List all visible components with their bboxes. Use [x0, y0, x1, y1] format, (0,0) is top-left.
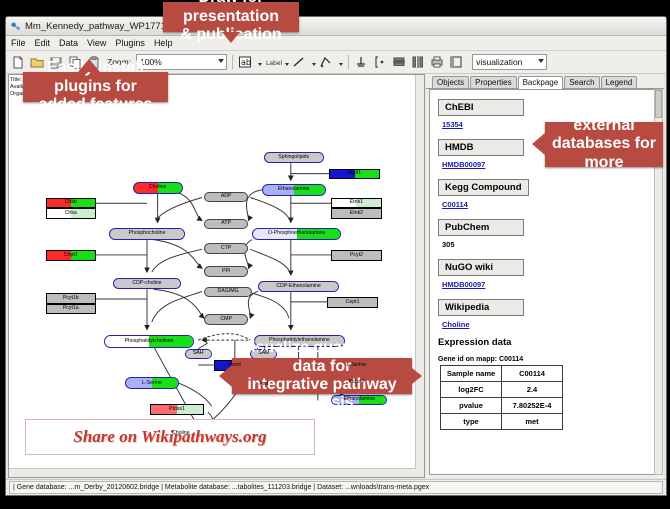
gene-node-pcyt2[interactable]: Pcyt2	[331, 250, 381, 261]
node-label: Sgpl1	[348, 171, 361, 176]
callout-visualize-text: Visualize quantitative data for integrat…	[232, 337, 412, 415]
canvas-horizontal-scrollbar[interactable]	[9, 468, 416, 477]
node-label: CDP-Ethanolamine	[276, 284, 320, 289]
menu-view[interactable]: View	[87, 38, 106, 48]
status-text: | Gene database: ...m_Derby_20120602.bri…	[9, 481, 663, 494]
node-label: Chpt1	[64, 253, 78, 258]
print-icon[interactable]	[430, 55, 446, 70]
metabolite-node-cdp_ethanolamine[interactable]: CDP-Ethanolamine	[258, 281, 339, 292]
cofactor-node-dag-mg[interactable]: DAG/MG	[204, 287, 252, 298]
cofactor-node-atp[interactable]: ATP	[204, 219, 248, 230]
share-banner-text: Share on Wikipathways.org	[73, 427, 266, 447]
metabolite-node-l_serine_left[interactable]: L-Serine	[125, 377, 179, 388]
node-label: Chka	[65, 211, 77, 216]
table-cell-key: pvalue	[441, 398, 502, 414]
node-label: CMP	[220, 317, 232, 322]
db-heading-wikipedia: Wikipedia	[438, 299, 524, 316]
node-label: Ptdss2	[349, 380, 365, 385]
callout-links-line3: more information	[551, 154, 657, 191]
table-cell-value: met	[502, 414, 563, 430]
metabolite-node-choline_top[interactable]: Choline	[133, 182, 183, 193]
db-value-kegg-compound[interactable]: C00114	[442, 200, 654, 209]
gene-node-chpt1[interactable]: Chpt1	[46, 250, 96, 261]
table-cell-key: log2FC	[441, 382, 502, 398]
expression-data-heading: Expression data	[438, 337, 654, 348]
gene-node-pcyt1b[interactable]: Pcyt1b	[46, 293, 96, 304]
gene-node-chka[interactable]: Chka	[46, 208, 96, 219]
node-label: Psd	[259, 382, 268, 387]
node-label: Pemt	[229, 363, 241, 368]
menu-file[interactable]: File	[11, 38, 26, 48]
table-cell-value: C00114	[502, 366, 563, 382]
db-heading-hmdb: HMDB	[438, 139, 524, 156]
line-dropdown-arrow[interactable]	[312, 63, 316, 66]
align-icon[interactable]	[392, 55, 408, 70]
node-label: CTP	[221, 246, 231, 251]
label-tool-text[interactable]: Label	[265, 55, 281, 70]
tab-backpage[interactable]: Backpage	[518, 76, 564, 89]
gene-node-etnk2[interactable]: Etnk2	[331, 208, 381, 219]
cofactor-node-ctp[interactable]: CTP	[204, 243, 248, 254]
metabolite-node-o_phosphoethanolamine[interactable]: O-Phosphoethanolamine	[252, 228, 341, 239]
node-label: Chkb	[65, 200, 77, 205]
expression-table: Sample nameC00114log2FC2.4pvalue7.80252E…	[440, 365, 563, 430]
node-label: Ethanolamine	[343, 397, 375, 402]
menu-edit[interactable]: Edit	[35, 38, 51, 48]
gene-node-sgpl1[interactable]: Sgpl1	[329, 169, 379, 180]
callout-visualize-line1: Visualize quantitative data for	[238, 339, 406, 376]
toolbar-separator-2	[348, 55, 349, 69]
node-label: CDP-choline	[132, 281, 161, 286]
callout-links-pointer	[532, 133, 545, 155]
canvas-vertical-scrollbar[interactable]	[415, 75, 424, 477]
menu-plugins[interactable]: Plugins	[115, 38, 145, 48]
gene-id-line: Gene id on mapp: C00114	[438, 356, 654, 363]
db-value-wikipedia[interactable]: Choline	[442, 320, 654, 329]
table-row: typemet	[441, 414, 563, 430]
node-label: Pcyt2	[350, 253, 363, 258]
pathvisio-app-icon	[10, 21, 21, 32]
callout-plugins: Easily install plugins for added feature…	[23, 72, 168, 102]
metabolite-node-sphingolipids[interactable]: Sphingolipids	[264, 152, 324, 163]
shape-icon[interactable]	[319, 55, 335, 70]
callout-plugins-pointer	[78, 59, 100, 72]
gene-node-etnk1[interactable]: Etnk1	[331, 198, 381, 209]
title-bar: Mm_Kennedy_pathway_WP1771_45176.gpml	[6, 17, 666, 36]
node-label: Pcyt1a	[63, 306, 79, 311]
toolbar-separator	[232, 55, 233, 69]
pathway-canvas-area[interactable]: Title: Availa Organi	[8, 74, 425, 478]
callout-visualize: Visualize quantitative data for integrat…	[232, 358, 412, 394]
callout-draw-pointer	[222, 32, 240, 43]
visualization-combo[interactable]: visualization	[472, 54, 547, 70]
gene-node-pcyt1a[interactable]: Pcyt1a	[46, 304, 96, 315]
node-label: SAH	[193, 351, 204, 356]
pathway-canvas[interactable]: Title: Availa Organi	[9, 75, 424, 477]
metabolite-node-phosphocholine[interactable]: Phosphocholine	[109, 228, 184, 239]
db-value-pubchem: 305	[442, 240, 654, 249]
node-label: ATP	[221, 221, 231, 226]
table-cell-key: Sample name	[441, 366, 502, 382]
node-label: Phosphocholine	[129, 231, 166, 236]
node-label: Choline	[149, 185, 167, 190]
callout-links-text: Link to external databases for more info…	[545, 97, 663, 193]
menu-data[interactable]: Data	[59, 38, 78, 48]
node-label: Pcyt1b	[63, 296, 79, 301]
text-label-icon[interactable]: ab	[238, 55, 254, 70]
node-label: Sphingolipids	[278, 155, 309, 160]
label-dropdown-arrow[interactable]	[258, 63, 262, 66]
status-bar: | Gene database: ...m_Derby_20120602.bri…	[6, 479, 666, 495]
db-heading-chebi: ChEBI	[438, 99, 524, 116]
bracket-icon[interactable]	[373, 55, 389, 70]
metabolite-node-cdp_choline[interactable]: CDP-choline	[113, 278, 181, 289]
line-icon[interactable]	[292, 55, 308, 70]
metabolite-node-phosphatidylcholines[interactable]: Phosphatidylcholines	[104, 335, 195, 347]
visualization-value: visualization	[476, 57, 522, 67]
node-label: L-Serine	[347, 363, 367, 368]
sidebar-tabs: Objects Properties Backpage Search Legen…	[426, 74, 664, 89]
node-label: O-Phosphoethanolamine	[268, 231, 325, 236]
node-label: DAG/MG	[218, 289, 239, 294]
node-label: Ethanolamine	[278, 187, 310, 192]
cofactor-node-ppi[interactable]: PPi	[204, 266, 248, 277]
node-label: Etnk1	[350, 200, 363, 205]
svg-text:Label: Label	[266, 60, 283, 67]
node-label: PPi	[222, 269, 230, 274]
svg-text:ab: ab	[241, 58, 251, 67]
tab-legend[interactable]: Legend	[601, 76, 638, 88]
shape-dropdown-arrow[interactable]	[339, 63, 343, 66]
cofactor-node-adp[interactable]: ADP	[204, 192, 248, 203]
db-value-nugo-wiki[interactable]: HMDB00097	[442, 280, 654, 289]
node-label: Phosphatidylethanolamine	[269, 338, 330, 343]
node-label: ADP	[221, 194, 232, 199]
callout-links: Link to external databases for more info…	[545, 122, 663, 167]
callout-visualize-pointer-left	[219, 365, 232, 387]
callout-plugins-line2: added features	[29, 96, 162, 114]
tab-search[interactable]: Search	[564, 76, 599, 88]
metabolite-node-ethanolamine_top[interactable]: Ethanolamine	[262, 184, 326, 195]
menu-bar: File Edit Data View Plugins Help	[6, 36, 666, 51]
gene-node-ptdss1[interactable]: Ptdss1	[150, 404, 204, 415]
table-row: log2FC2.4	[441, 382, 563, 398]
node-label: Cept1	[346, 300, 360, 305]
db-heading-pubchem: PubChem	[438, 219, 524, 236]
chevron-down-icon	[218, 59, 224, 63]
callout-links-line2: databases for	[551, 135, 657, 153]
table-cell-key: type	[441, 414, 502, 430]
table-row: Sample nameC00114	[441, 366, 563, 382]
db-heading-kegg-compound: Kegg Compound	[438, 179, 529, 196]
callout-draw: Draw for presentation & publication	[163, 2, 299, 32]
gene-node-chkb[interactable]: Chkb	[46, 198, 96, 209]
node-label: L-Serine	[142, 381, 162, 386]
node-label: Etnk2	[350, 211, 363, 216]
screenshot-root: Mm_Kennedy_pathway_WP1771_45176.gpml Fil…	[0, 0, 670, 509]
table-row: pvalue7.80252E-4	[441, 398, 563, 414]
node-label: SAM	[258, 351, 269, 356]
cofactor-node-cmp[interactable]: CMP	[204, 314, 248, 325]
callout-visualize-pointer-right	[412, 368, 422, 384]
label-tool-arrow[interactable]	[285, 63, 289, 66]
sidebar-icon[interactable]	[449, 55, 465, 70]
callout-links-line1: Link to external	[551, 99, 657, 136]
anchor-icon[interactable]	[354, 55, 370, 70]
distribute-icon[interactable]	[411, 55, 427, 70]
share-banner: Share on Wikipathways.org	[25, 419, 315, 455]
tab-properties[interactable]: Properties	[470, 76, 516, 88]
chevron-down-icon-2	[538, 59, 544, 63]
db-heading-nugo-wiki: NuGO wiki	[438, 259, 524, 276]
node-label: Ptdss1	[169, 407, 185, 412]
gene-node-cept1[interactable]: Cept1	[327, 297, 377, 308]
table-cell-value: 7.80252E-4	[502, 398, 563, 414]
table-cell-value: 2.4	[502, 382, 563, 398]
callout-draw-line1: Draw for presentation	[169, 0, 293, 26]
node-label: Phosphatidylcholines	[125, 339, 174, 344]
node-label: Choline	[172, 431, 190, 436]
metabolite-node-sah_left[interactable]: SAH	[185, 349, 212, 360]
tab-objects[interactable]: Objects	[432, 76, 469, 88]
